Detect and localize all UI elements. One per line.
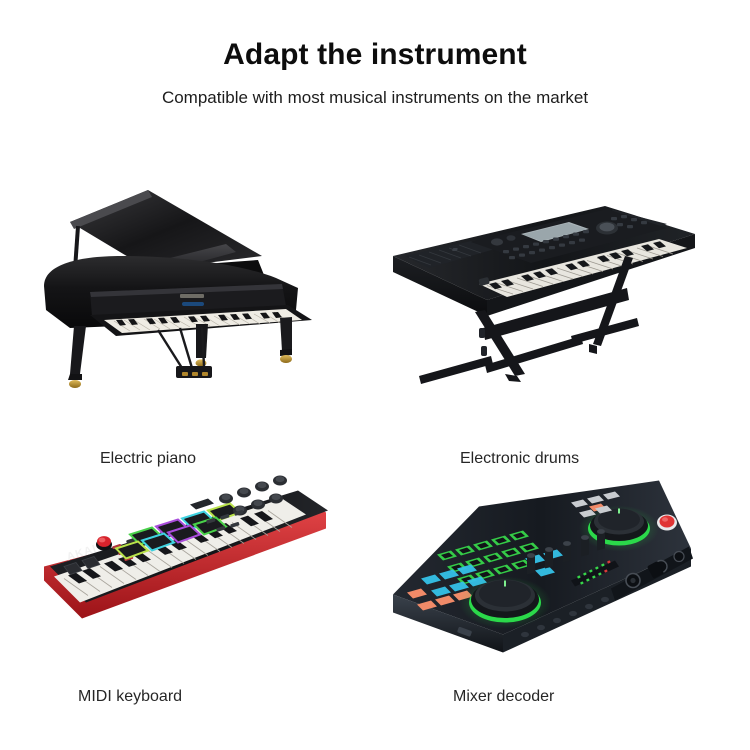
instrument-card-electric-piano: Electric piano xyxy=(30,160,370,450)
product-feature-page: Adapt the instrument Compatible with mos… xyxy=(0,0,750,750)
instrument-grid: Electric piano xyxy=(0,140,750,740)
grand-piano-icon xyxy=(30,160,370,395)
caption-mixer-decoder: Mixer decoder xyxy=(375,688,750,706)
audio-mixer-icon xyxy=(375,445,720,680)
page-subtitle: Compatible with most musical instruments… xyxy=(0,88,750,108)
arranger-keyboard-icon xyxy=(375,160,720,395)
caption-midi-keyboard: MIDI keyboard xyxy=(30,688,418,706)
page-title: Adapt the instrument xyxy=(0,38,750,72)
instrument-card-midi-keyboard: AKAI xyxy=(30,445,370,725)
instrument-card-mixer-decoder: Mixer decoder xyxy=(375,445,720,725)
instrument-card-electronic-drums: Electronic drums xyxy=(375,160,720,450)
akai-midi-controller-icon: AKAI xyxy=(30,445,370,680)
